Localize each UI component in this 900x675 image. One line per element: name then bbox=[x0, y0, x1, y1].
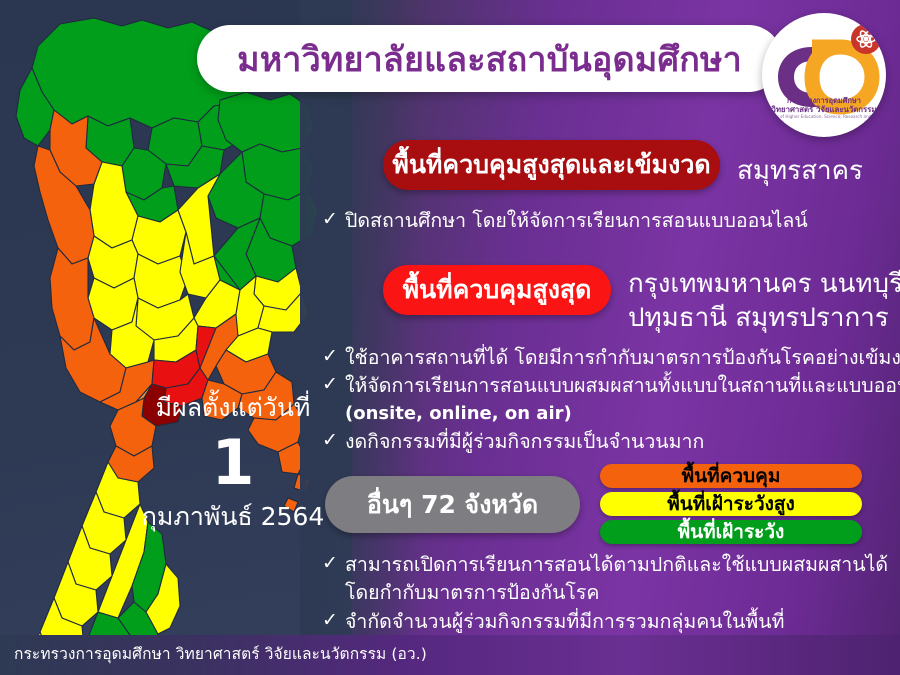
zone-provinces-strict-max-control: สมุทรสาคร bbox=[737, 150, 863, 191]
list-item-continuation: โดยกำกับมาตรการป้องกันโรค bbox=[322, 580, 888, 605]
list-item-text: ให้จัดการเรียนการสอนแบบผสมผสานทั้งแบบในส… bbox=[345, 373, 900, 398]
list-item: ✓ จำกัดจำนวนผู้ร่วมกิจกรรมที่มีการรวมกลุ… bbox=[322, 609, 888, 634]
footer-text: กระทรวงการอุดมศึกษา วิทยาศาสตร์ วิจัยและ… bbox=[14, 641, 427, 666]
effective-date-month-year: กุมภาพันธ์ 2564 bbox=[118, 497, 348, 537]
list-item: ✓ ใช้อาคารสถานที่ได้ โดยมีการกำกับมาตรกา… bbox=[322, 345, 900, 370]
ministry-logo: กระทรวงการอุดมศึกษา วิทยาศาสตร์ วิจัยและ… bbox=[762, 13, 886, 137]
page-title-pill: มหาวิทยาลัยและสถาบันอุดมศึกษา bbox=[197, 25, 782, 92]
check-icon: ✓ bbox=[322, 552, 345, 576]
bullet-list-strict-max-control: ✓ ปิดสถานศึกษา โดยให้จัดการเรียนการสอนแบ… bbox=[322, 208, 808, 236]
effective-date-block: มีผลตั้งแต่วันที่ 1 กุมภาพันธ์ 2564 bbox=[118, 388, 348, 537]
zone-provinces-max-control-line2: ปทุมธานี สมุทรปราการ bbox=[628, 297, 889, 338]
legend-item-control[interactable]: พื้นที่ควบคุม bbox=[600, 464, 862, 488]
zone-badge-other-provinces[interactable]: อื่นๆ 72 จังหวัด bbox=[325, 476, 580, 533]
effective-date-prefix: มีผลตั้งแต่วันที่ bbox=[118, 388, 348, 428]
check-icon: ✓ bbox=[322, 345, 345, 369]
check-icon: ✓ bbox=[322, 609, 345, 633]
legend-item-high-watch[interactable]: พื้นที่เฝ้าระวังสูง bbox=[600, 492, 862, 516]
list-item: ✓ ให้จัดการเรียนการสอนแบบผสมผสานทั้งแบบใ… bbox=[322, 373, 900, 398]
zone-badge-max-control[interactable]: พื้นที่ควบคุมสูงสุด bbox=[383, 265, 611, 315]
page-title: มหาวิทยาลัยและสถาบันอุดมศึกษา bbox=[197, 25, 782, 92]
list-item-text: สามารถเปิดการเรียนการสอนได้ตามปกติและใช้… bbox=[345, 552, 888, 577]
effective-date-day: 1 bbox=[118, 430, 348, 495]
list-item-subtext: (onsite, online, on air) bbox=[322, 402, 900, 425]
zone-badge-strict-max-control[interactable]: พื้นที่ควบคุมสูงสุดและเข้มงวด bbox=[383, 140, 720, 190]
list-item: ✓ ปิดสถานศึกษา โดยให้จัดการเรียนการสอนแบ… bbox=[322, 208, 808, 233]
list-item-text: ใช้อาคารสถานที่ได้ โดยมีการกำกับมาตรการป… bbox=[345, 345, 900, 370]
list-item-text: งดกิจกรรมที่มีผู้ร่วมกิจกรรมเป็นจำนวนมาก bbox=[345, 429, 704, 454]
list-item-text: ปิดสถานศึกษา โดยให้จัดการเรียนการสอนแบบอ… bbox=[345, 208, 808, 233]
logo-caption-line3: Ministry of Higher Education, Science, R… bbox=[762, 114, 886, 119]
thailand-map bbox=[2, 6, 332, 666]
list-item: ✓ งดกิจกรรมที่มีผู้ร่วมกิจกรรมเป็นจำนวนม… bbox=[322, 429, 900, 454]
check-icon: ✓ bbox=[322, 373, 345, 397]
list-item: ✓ สามารถเปิดการเรียนการสอนได้ตามปกติและใ… bbox=[322, 552, 888, 577]
infographic-canvas: มีผลตั้งแต่วันที่ 1 กุมภาพันธ์ 2564 มหาว… bbox=[0, 0, 900, 675]
check-icon: ✓ bbox=[322, 429, 345, 453]
bullet-list-other-provinces: ✓ สามารถเปิดการเรียนการสอนได้ตามปกติและใ… bbox=[322, 552, 888, 637]
list-item-text: จำกัดจำนวนผู้ร่วมกิจกรรมที่มีการรวมกลุ่ม… bbox=[345, 609, 784, 634]
map-panel bbox=[0, 0, 352, 675]
check-icon: ✓ bbox=[322, 208, 345, 232]
legend-item-watch[interactable]: พื้นที่เฝ้าระวัง bbox=[600, 520, 862, 544]
bullet-list-max-control: ✓ ใช้อาคารสถานที่ได้ โดยมีการกำกับมาตรกา… bbox=[322, 345, 900, 457]
